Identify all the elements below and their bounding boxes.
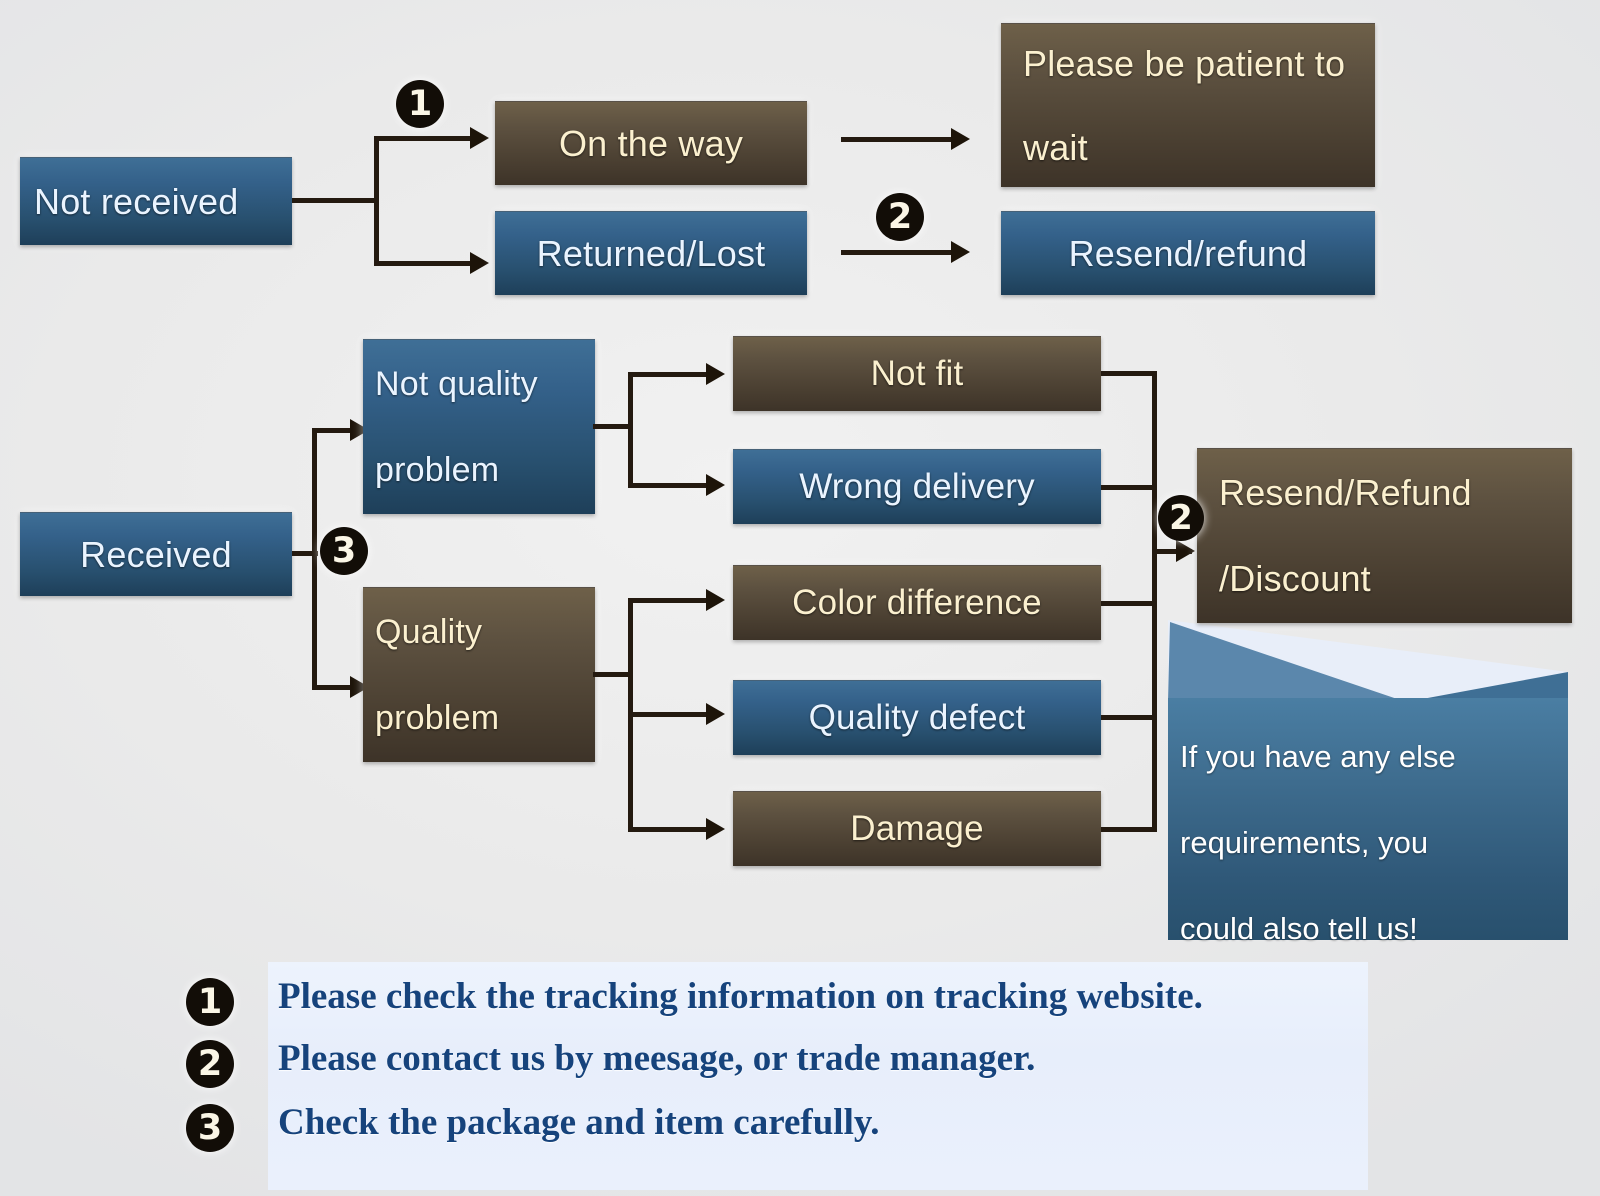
arrowhead-quality-defect xyxy=(706,703,725,725)
callout-line-2: requirements, you xyxy=(1180,800,1558,886)
arrowhead-returned-lost xyxy=(470,252,489,274)
arrowhead-not-fit xyxy=(706,363,725,385)
node-please-be-patient-label: Please be patient to wait xyxy=(1023,22,1375,190)
connector-qp-low xyxy=(628,827,710,832)
node-not-fit[interactable]: Not fit xyxy=(733,336,1101,411)
arrowhead-damage xyxy=(706,818,725,840)
legend-badge-1: 1 xyxy=(186,978,234,1026)
connector-rcv-down xyxy=(312,685,354,690)
node-resend-refund-label: Resend/refund xyxy=(1001,233,1375,275)
connector-nr-stem xyxy=(292,198,376,203)
callout-bubble: If you have any else requirements, you c… xyxy=(1168,620,1568,940)
connector-nqp-stem xyxy=(593,424,633,429)
legend-item-2: 2 Please contact us by meesage, or trade… xyxy=(0,1040,1600,1104)
node-quality-problem-line1: Quality xyxy=(375,613,482,651)
node-resend-refund[interactable]: Resend/refund xyxy=(1001,211,1375,295)
legend-badge-2: 2 xyxy=(186,1040,234,1088)
node-not-quality-problem-line2: problem xyxy=(375,451,499,489)
legend-text-1: Please check the tracking information on… xyxy=(278,975,1203,1018)
badge-3-received: 3 xyxy=(320,527,368,575)
node-returned-lost-label: Returned/Lost xyxy=(495,233,807,275)
node-received[interactable]: Received xyxy=(20,512,292,596)
node-quality-defect-label: Quality defect xyxy=(733,698,1101,738)
node-on-the-way[interactable]: On the way xyxy=(495,101,807,185)
connector-otw-to-wait xyxy=(841,137,955,142)
node-please-be-patient[interactable]: Please be patient to wait xyxy=(1001,23,1375,187)
callout-line-3: could also tell us! xyxy=(1180,886,1558,972)
node-rrd-line1: Resend/Refund xyxy=(1219,472,1472,513)
legend-text-3: Check the package and item carefully. xyxy=(278,1101,880,1144)
legend-item-3: 3 Check the package and item carefully. xyxy=(0,1104,1600,1168)
flowchart-canvas: Not received 1 On the way Returned/Lost … xyxy=(0,0,1600,1196)
arrowhead-on-the-way xyxy=(470,127,489,149)
node-damage[interactable]: Damage xyxy=(733,791,1101,866)
arrowhead-resend-refund xyxy=(951,241,970,263)
connector-merge-qualitydef xyxy=(1101,715,1157,720)
arrowhead-color-difference xyxy=(706,589,725,611)
connector-rcv-up xyxy=(312,428,354,433)
connector-merge-notfit xyxy=(1101,371,1157,376)
node-color-difference-label: Color difference xyxy=(733,583,1101,623)
connector-nr-up xyxy=(374,136,474,141)
node-not-received[interactable]: Not received xyxy=(20,157,292,245)
node-not-quality-problem[interactable]: Not quality problem xyxy=(363,339,595,514)
node-on-the-way-label: On the way xyxy=(495,123,807,165)
legend-text-2: Please contact us by meesage, or trade m… xyxy=(278,1037,1035,1080)
node-quality-problem-line2: problem xyxy=(375,699,499,737)
callout-text: If you have any else requirements, you c… xyxy=(1168,698,1568,940)
node-not-quality-problem-line1: Not quality xyxy=(375,365,538,403)
connector-nqp-up xyxy=(628,372,710,377)
connector-nqp-split xyxy=(628,372,633,488)
arrowhead-wrong-delivery xyxy=(706,474,725,496)
node-quality-defect[interactable]: Quality defect xyxy=(733,680,1101,755)
connector-nr-split xyxy=(374,136,379,266)
connector-nr-down xyxy=(374,261,474,266)
callout-line-1: If you have any else xyxy=(1180,714,1558,800)
node-resend-refund-discount[interactable]: Resend/Refund /Discount xyxy=(1197,448,1572,623)
connector-merge-damage xyxy=(1101,827,1157,832)
node-not-quality-problem-label: Not quality problem xyxy=(375,341,595,513)
legend-item-1: 1 Please check the tracking information … xyxy=(0,978,1600,1042)
badge-1-on-the-way: 1 xyxy=(396,80,444,128)
connector-merge-wrongdel xyxy=(1101,485,1157,490)
node-resend-refund-discount-label: Resend/Refund /Discount xyxy=(1219,450,1572,622)
node-rrd-line2: /Discount xyxy=(1219,558,1371,599)
connector-merge-colordiff xyxy=(1101,601,1157,606)
node-returned-lost[interactable]: Returned/Lost xyxy=(495,211,807,295)
node-not-received-label: Not received xyxy=(34,181,292,223)
node-wrong-delivery[interactable]: Wrong delivery xyxy=(733,449,1101,524)
badge-2-outcome: 2 xyxy=(1158,495,1204,541)
node-damage-label: Damage xyxy=(733,809,1101,849)
node-color-difference[interactable]: Color difference xyxy=(733,565,1101,640)
arrowhead-please-wait xyxy=(951,128,970,150)
connector-rcv-split xyxy=(312,428,317,690)
arrowhead-resend-refund-discount xyxy=(1176,540,1195,562)
node-quality-problem-label: Quality problem xyxy=(375,589,595,761)
node-quality-problem[interactable]: Quality problem xyxy=(363,587,595,762)
connector-merge-bus xyxy=(1152,371,1157,832)
node-not-fit-label: Not fit xyxy=(733,354,1101,394)
badge-2-returned-lost: 2 xyxy=(876,193,924,241)
connector-qp-stem xyxy=(593,672,633,677)
connector-qp-up xyxy=(628,598,710,603)
node-wrong-delivery-label: Wrong delivery xyxy=(733,467,1101,507)
legend-badge-3: 3 xyxy=(186,1104,234,1152)
connector-rl-to-resend xyxy=(841,250,955,255)
connector-qp-mid xyxy=(628,712,710,717)
connector-nqp-down xyxy=(628,483,710,488)
node-received-label: Received xyxy=(20,534,292,576)
